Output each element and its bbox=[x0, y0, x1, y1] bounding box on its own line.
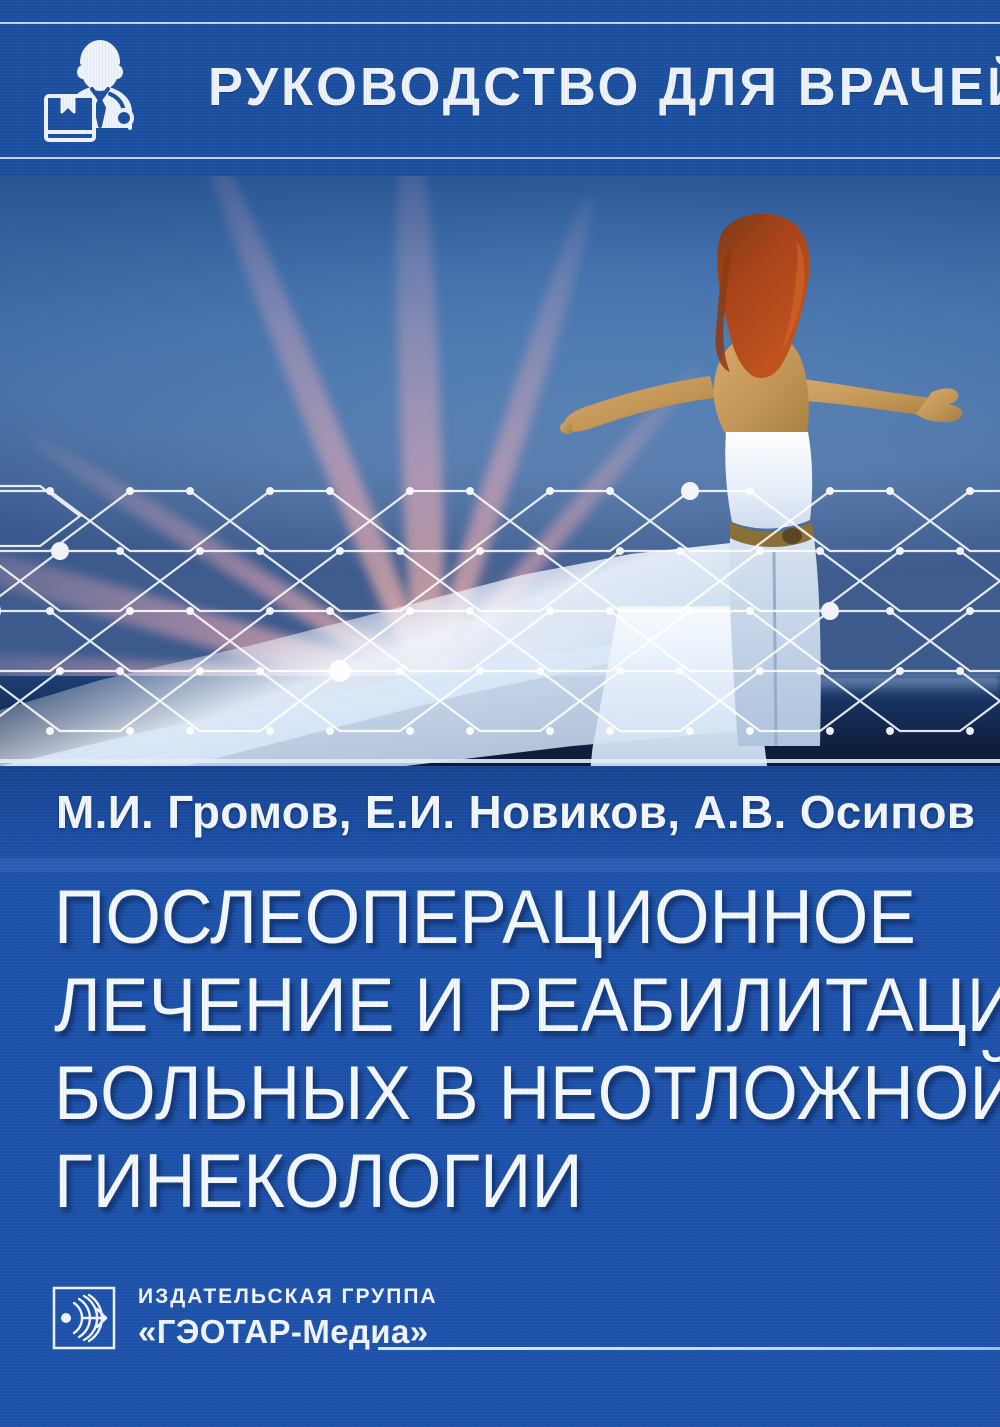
cover-photo bbox=[0, 176, 1000, 766]
title-line-3: БОЛЬНЫХ В НЕОТЛОЖНОЙ bbox=[54, 1050, 919, 1138]
title-panel: М.И. Громов, Е.И. Новиков, А.В. Осипов П… bbox=[0, 766, 1000, 1427]
title-line-4: ГИНЕКОЛОГИИ bbox=[54, 1138, 919, 1226]
book-cover: РУКОВОДСТВО ДЛЯ ВРАЧЕЙ bbox=[0, 0, 1000, 1427]
publisher-text: ИЗДАТЕЛЬСКАЯ ГРУППА «ГЭОТАР-Медиа» bbox=[138, 1284, 438, 1352]
series-header-band: РУКОВОДСТВО ДЛЯ ВРАЧЕЙ bbox=[0, 0, 1000, 176]
publisher-rule bbox=[378, 1347, 1000, 1350]
doctor-with-book-icon bbox=[40, 36, 148, 142]
series-label: РУКОВОДСТВО ДЛЯ ВРАЧЕЙ bbox=[208, 58, 1000, 116]
publisher-block: ИЗДАТЕЛЬСКАЯ ГРУППА «ГЭОТАР-Медиа» bbox=[52, 1284, 438, 1352]
publisher-group-label: ИЗДАТЕЛЬСКАЯ ГРУППА bbox=[138, 1284, 438, 1310]
title-line-2: ЛЕЧЕНИЕ И РЕАБИЛИТАЦИЯ bbox=[54, 962, 919, 1050]
publisher-name: «ГЭОТАР-Медиа» bbox=[138, 1312, 438, 1352]
title-line-1: ПОСЛЕОПЕРАЦИОННОЕ bbox=[54, 874, 919, 962]
photo-bottom-rule bbox=[0, 759, 1000, 763]
book-title: ПОСЛЕОПЕРАЦИОННОЕ ЛЕЧЕНИЕ И РЕАБИЛИТАЦИЯ… bbox=[54, 874, 974, 1226]
geotar-media-logo-icon bbox=[52, 1286, 116, 1350]
panel-highlight-band bbox=[0, 858, 1000, 872]
header-bottom-rule bbox=[0, 157, 1000, 159]
header-top-rule bbox=[0, 22, 1000, 24]
hexagon-network-overlay bbox=[0, 476, 1000, 766]
authors-line: М.И. Громов, Е.И. Новиков, А.В. Осипов bbox=[56, 786, 975, 838]
